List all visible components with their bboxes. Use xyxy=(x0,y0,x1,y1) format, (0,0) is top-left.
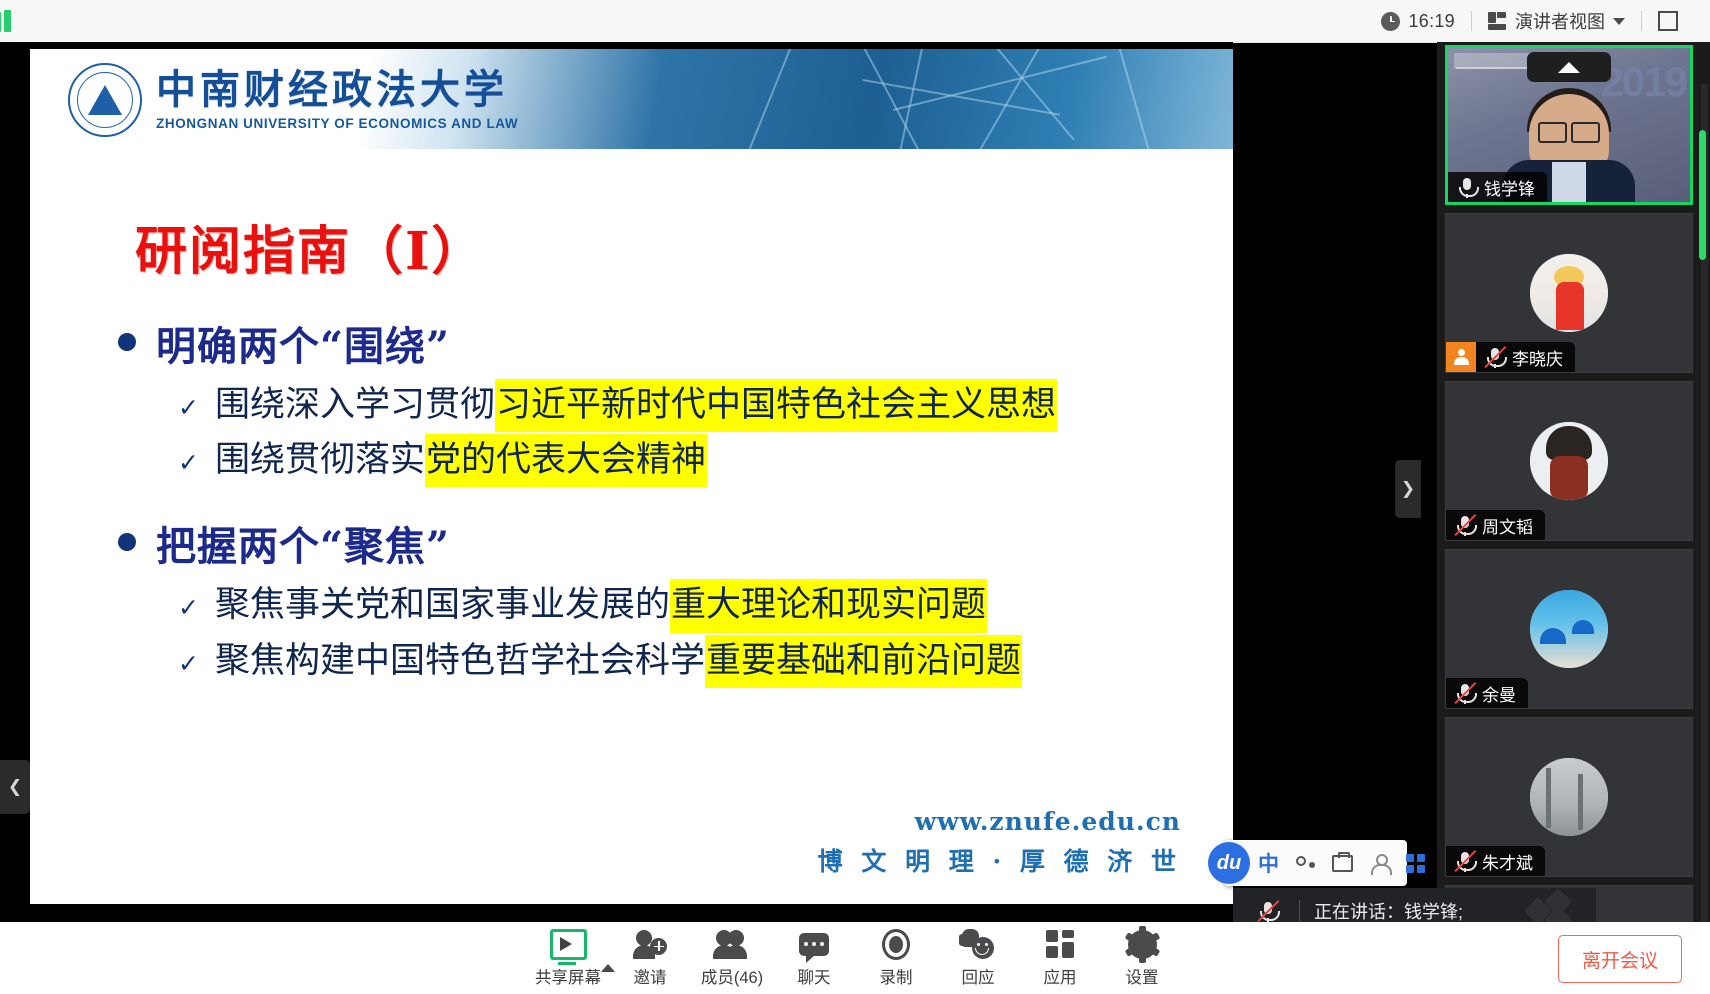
gallery-panel-toggle[interactable]: ❯ xyxy=(1395,460,1421,518)
mic-muted-icon xyxy=(1452,512,1478,538)
ime-toolbar[interactable]: du 中 xyxy=(1224,840,1407,886)
gallery-scrollbar-thumb[interactable] xyxy=(1699,130,1706,260)
gallery-scrollbar-track[interactable] xyxy=(1701,84,1708,922)
bullet-dot-icon xyxy=(118,533,136,551)
sub-bullet-plain: 围绕深入学习贯彻 xyxy=(215,379,495,432)
mic-muted-icon xyxy=(1452,680,1478,706)
mic-muted-icon xyxy=(1255,898,1281,924)
avatar xyxy=(1530,422,1608,500)
chevron-left-icon: ❮ xyxy=(8,777,22,797)
participant-tile[interactable]: 朱才斌 xyxy=(1445,717,1693,877)
reaction-icon xyxy=(962,928,994,960)
check-icon: ✓ xyxy=(178,389,199,427)
sub-bullet-highlight: 党的代表大会精神 xyxy=(425,434,707,487)
app-icon-area xyxy=(0,0,60,42)
university-seal-icon xyxy=(68,63,142,137)
share-screen-label: 共享屏幕 xyxy=(535,964,601,988)
sub-bullet: ✓ 聚焦构建中国特色哲学社会科学 重要基础和前沿问题 xyxy=(178,635,1198,688)
slide-footer-url: www.znufe.edu.cn xyxy=(818,807,1181,836)
record-button[interactable]: 录制 xyxy=(855,928,937,988)
settings-label: 设置 xyxy=(1126,964,1159,988)
check-icon: ✓ xyxy=(178,589,199,627)
chat-label: 聊天 xyxy=(798,964,831,988)
participant-tile[interactable]: 李晓庆 xyxy=(1445,213,1693,373)
chat-button[interactable]: 聊天 xyxy=(773,928,855,988)
record-label: 录制 xyxy=(880,964,913,988)
check-icon: ✓ xyxy=(178,645,199,683)
participant-tile[interactable]: 余曼 xyxy=(1445,549,1693,709)
top-bar-right: 16:19 演讲者视图 xyxy=(1365,0,1694,42)
sub-bullet-plain: 围绕贯彻落实 xyxy=(215,434,425,487)
participant-gallery[interactable]: 2019 钱学锋 xyxy=(1437,42,1710,922)
invite-icon xyxy=(633,928,667,960)
header-decoration xyxy=(713,49,1233,149)
user-icon[interactable] xyxy=(1369,853,1390,874)
spacer xyxy=(108,489,1198,517)
participant-tile-active-speaker[interactable]: 2019 钱学锋 xyxy=(1445,45,1693,205)
participant-name: 周文韬 xyxy=(1482,513,1533,538)
leave-meeting-button[interactable]: 离开会议 xyxy=(1558,935,1682,983)
toolbox-icon[interactable] xyxy=(1332,853,1353,874)
apps-button[interactable]: 应用 xyxy=(1019,928,1101,988)
host-badge-icon xyxy=(1446,342,1476,372)
slide-header-banner: 中南财经政法大学 ZHONGNAN UNIVERSITY OF ECONOMIC… xyxy=(30,49,1233,149)
settings-button[interactable]: 设置 xyxy=(1101,928,1183,988)
bullet-heading-text: 明确两个“围绕” xyxy=(156,317,450,377)
top-bar: 16:19 演讲者视图 xyxy=(0,0,1710,43)
chat-icon xyxy=(799,928,829,960)
participant-name: 朱才斌 xyxy=(1482,849,1533,874)
slide-bullet-list: 明确两个“围绕” ✓ 围绕深入学习贯彻 习近平新时代中国特色社会主义思想 ✓ 围… xyxy=(108,317,1198,690)
bullet-dot-icon xyxy=(118,333,136,351)
meeting-window: 16:19 演讲者视图 xyxy=(0,0,1710,994)
reaction-label: 回应 xyxy=(962,964,995,988)
punctuation-icon[interactable] xyxy=(1295,853,1316,874)
participant-namebar: 朱才斌 xyxy=(1446,846,1545,876)
record-icon xyxy=(882,928,910,960)
meeting-toolbar: 共享屏幕 邀请 成员(46) 聊天 录制 xyxy=(0,922,1710,994)
sub-bullet-plain: 聚焦构建中国特色哲学社会科学 xyxy=(215,635,705,688)
participant-name: 钱学锋 xyxy=(1484,175,1535,200)
avatar xyxy=(1530,590,1608,668)
view-mode-label: 演讲者视图 xyxy=(1515,8,1605,34)
share-screen-button[interactable]: 共享屏幕 xyxy=(527,928,609,988)
apps-label: 应用 xyxy=(1044,964,1077,988)
sub-bullet: ✓ 聚焦事关党和国家事业发展的 重大理论和现实问题 xyxy=(178,579,1198,632)
presenter-view-icon xyxy=(1488,12,1507,30)
fullscreen-icon[interactable] xyxy=(1658,11,1678,31)
participant-name: 李晓庆 xyxy=(1512,345,1563,370)
ime-items: 中 xyxy=(1258,848,1427,878)
ime-mode-label[interactable]: 中 xyxy=(1258,848,1279,878)
chevron-right-icon: ❯ xyxy=(1401,479,1415,499)
sub-bullet: ✓ 围绕深入学习贯彻 习近平新时代中国特色社会主义思想 xyxy=(178,379,1198,432)
slide-title: 研阅指南（Ⅰ） xyxy=(135,209,485,284)
mic-muted-icon xyxy=(1452,848,1478,874)
mic-muted-icon xyxy=(1482,344,1508,370)
avatar xyxy=(1530,254,1608,332)
avatar xyxy=(1530,758,1608,836)
speaking-indicator-text: 正在讲话：钱学锋; xyxy=(1314,898,1463,924)
meeting-time: 16:19 xyxy=(1365,11,1471,32)
presentation-slide: 中南财经政法大学 ZHONGNAN UNIVERSITY OF ECONOMIC… xyxy=(30,49,1233,904)
participant-name: 余曼 xyxy=(1482,681,1516,706)
members-label: 成员(46) xyxy=(701,964,763,988)
sub-bullet-plain: 聚焦事关党和国家事业发展的 xyxy=(215,579,670,632)
shared-screen-stage: 中南财经政法大学 ZHONGNAN UNIVERSITY OF ECONOMIC… xyxy=(0,42,1233,922)
fullscreen-button[interactable] xyxy=(1642,11,1694,31)
view-mode-selector[interactable]: 演讲者视图 xyxy=(1472,8,1641,34)
invite-label: 邀请 xyxy=(634,964,667,988)
stage-collapse-handle[interactable]: ❮ xyxy=(0,760,30,814)
meeting-app-icon xyxy=(0,10,11,32)
chevron-up-icon xyxy=(1558,62,1580,73)
bullet-heading: 把握两个“聚焦” xyxy=(108,517,1198,577)
sub-bullet: ✓ 围绕贯彻落实 党的代表大会精神 xyxy=(178,434,1198,487)
sub-bullet-highlight: 重要基础和前沿问题 xyxy=(705,635,1022,688)
chevron-down-icon[interactable] xyxy=(1613,18,1625,25)
participant-namebar: 余曼 xyxy=(1446,678,1528,708)
sub-bullet-highlight: 习近平新时代中国特色社会主义思想 xyxy=(495,379,1057,432)
meeting-time-text: 16:19 xyxy=(1408,11,1455,32)
sub-bullet-highlight: 重大理论和现实问题 xyxy=(670,579,987,632)
university-name-cn: 中南财经政法大学 xyxy=(156,69,518,111)
bullet-heading-text: 把握两个“聚焦” xyxy=(156,517,450,577)
slide-footer-motto: 博 文 明 理 · 厚 德 济 世 xyxy=(818,842,1181,878)
reaction-button[interactable]: 回应 xyxy=(937,928,1019,988)
participant-tile[interactable]: 周文韬 xyxy=(1445,381,1693,541)
members-icon xyxy=(715,928,749,960)
mic-icon xyxy=(1454,174,1480,200)
ime-logo-icon[interactable]: du xyxy=(1208,842,1250,884)
divider xyxy=(1299,900,1300,922)
share-screen-icon xyxy=(550,928,587,960)
participant-namebar: 李晓庆 xyxy=(1446,342,1575,372)
participant-namebar: 周文韬 xyxy=(1446,510,1545,540)
participant-namebar: 钱学锋 xyxy=(1448,172,1547,202)
invite-button[interactable]: 邀请 xyxy=(609,928,691,988)
bullet-heading: 明确两个“围绕” xyxy=(108,317,1198,377)
apps-icon xyxy=(1046,928,1074,960)
university-logo: 中南财经政法大学 ZHONGNAN UNIVERSITY OF ECONOMIC… xyxy=(68,63,518,137)
apps-grid-icon[interactable] xyxy=(1406,853,1427,874)
slide-footer: www.znufe.edu.cn 博 文 明 理 · 厚 德 济 世 xyxy=(818,807,1181,878)
members-button[interactable]: 成员(46) xyxy=(691,928,773,988)
university-name-en: ZHONGNAN UNIVERSITY OF ECONOMICS AND LAW xyxy=(156,116,518,131)
check-icon: ✓ xyxy=(178,444,199,482)
clock-icon xyxy=(1381,12,1400,31)
university-name: 中南财经政法大学 ZHONGNAN UNIVERSITY OF ECONOMIC… xyxy=(156,69,518,131)
settings-gear-icon xyxy=(1128,928,1157,960)
gallery-collapse-button[interactable] xyxy=(1527,52,1611,82)
